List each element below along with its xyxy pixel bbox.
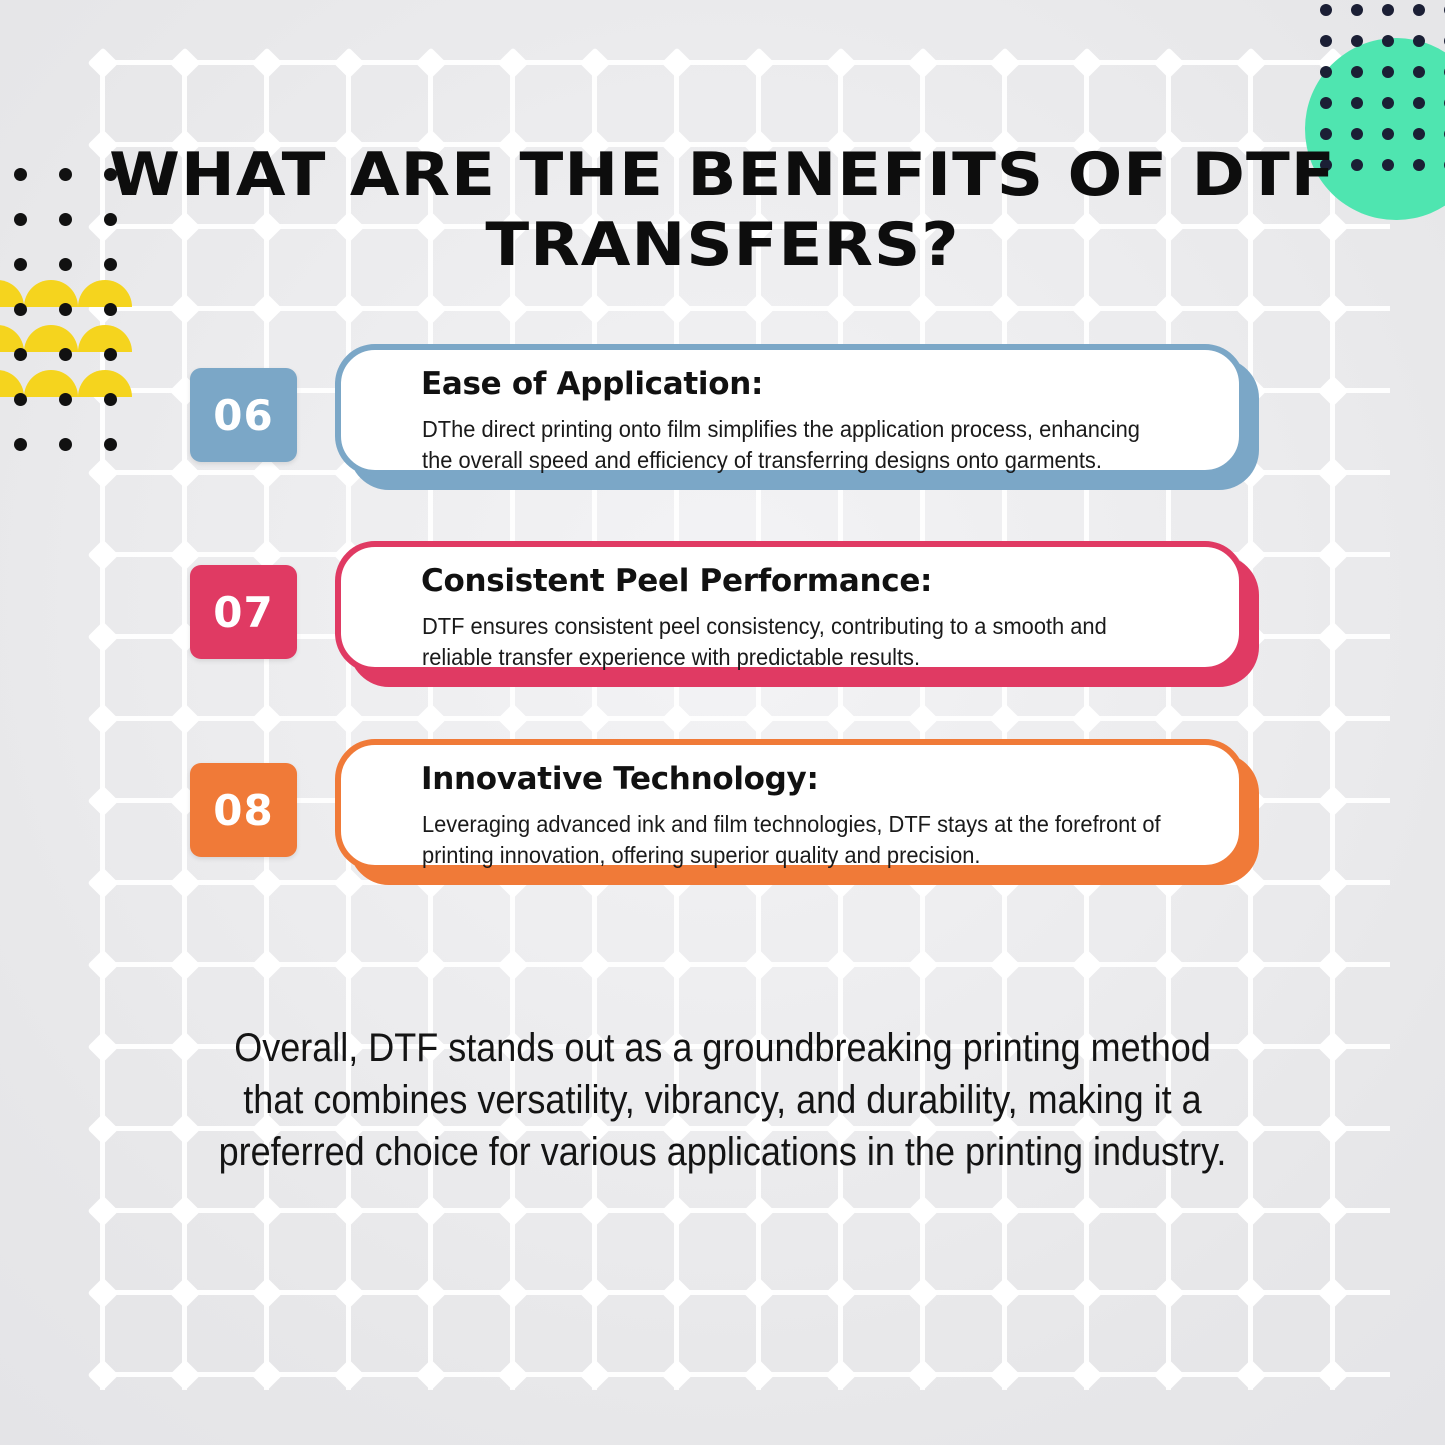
grid-node <box>825 47 856 78</box>
grid-node <box>907 293 938 324</box>
grid-node <box>1317 293 1348 324</box>
grid-node <box>87 703 118 734</box>
grid-node <box>1235 1195 1266 1226</box>
decorative-dot <box>14 258 27 271</box>
badge-number-08: 08 <box>190 763 297 857</box>
decorative-dot <box>59 168 72 181</box>
grid-node <box>907 1195 938 1226</box>
grid-node <box>1153 47 1184 78</box>
decorative-dot <box>1382 66 1394 78</box>
grid-node <box>497 47 528 78</box>
grid-node <box>579 949 610 980</box>
grid-node <box>251 949 282 980</box>
decorative-dot <box>1382 4 1394 16</box>
grid-node <box>1153 949 1184 980</box>
grid-node <box>989 47 1020 78</box>
grid-node <box>415 949 446 980</box>
decorative-dot <box>59 303 72 316</box>
badge-number-06: 06 <box>190 368 297 462</box>
grid-node <box>825 1359 856 1390</box>
grid-node <box>989 293 1020 324</box>
card-08[interactable]: Innovative Technology: Leveraging advanc… <box>335 739 1245 871</box>
decorative-dot <box>1320 35 1332 47</box>
grid-node <box>743 1359 774 1390</box>
grid-node <box>1153 1195 1184 1226</box>
grid-node <box>1317 1277 1348 1308</box>
grid-node <box>1153 1359 1184 1390</box>
grid-node <box>743 1277 774 1308</box>
grid-node <box>989 949 1020 980</box>
decorative-dot <box>14 213 27 226</box>
grid-node <box>497 703 528 734</box>
grid-node <box>1153 293 1184 324</box>
grid-node <box>743 293 774 324</box>
grid-node <box>661 1277 692 1308</box>
grid-node <box>87 1277 118 1308</box>
grid-node <box>579 703 610 734</box>
grid-node <box>989 1195 1020 1226</box>
grid-node <box>415 1277 446 1308</box>
decorative-dot <box>1413 128 1425 140</box>
grid-node <box>1235 1277 1266 1308</box>
grid-node <box>579 1359 610 1390</box>
decorative-dot <box>59 258 72 271</box>
grid-node <box>1071 293 1102 324</box>
grid-node <box>1071 1277 1102 1308</box>
grid-node <box>1071 703 1102 734</box>
decorative-dot <box>1320 4 1332 16</box>
closing-paragraph: Overall, DTF stands out as a groundbreak… <box>216 1022 1229 1178</box>
grid-node <box>497 1359 528 1390</box>
grid-node <box>251 1195 282 1226</box>
grid-node <box>333 949 364 980</box>
grid-node <box>169 293 200 324</box>
grid-node <box>87 949 118 980</box>
grid-node <box>579 293 610 324</box>
decorative-dot <box>1382 97 1394 109</box>
grid-node <box>415 703 446 734</box>
decorative-dot <box>1413 4 1425 16</box>
decorative-dot <box>1351 128 1363 140</box>
grid-node <box>1317 1031 1348 1062</box>
card-body-08: Leveraging advanced ink and film technol… <box>422 809 1175 871</box>
grid-node <box>907 47 938 78</box>
decorative-dot <box>1351 66 1363 78</box>
grid-node <box>743 1195 774 1226</box>
grid-node <box>1071 1195 1102 1226</box>
grid-node <box>497 949 528 980</box>
grid-node <box>907 949 938 980</box>
grid-node <box>1235 1359 1266 1390</box>
grid-node <box>825 949 856 980</box>
grid-node <box>989 1359 1020 1390</box>
grid-node <box>1235 1113 1266 1144</box>
grid-node <box>1235 47 1266 78</box>
grid-node <box>333 47 364 78</box>
grid-node <box>661 949 692 980</box>
grid-node <box>907 703 938 734</box>
grid-node <box>169 1031 200 1062</box>
grid-node <box>1317 703 1348 734</box>
grid-node <box>579 1195 610 1226</box>
grid-node <box>415 47 446 78</box>
grid-node <box>333 1277 364 1308</box>
card-body-07: DTF ensures consistent peel consistency,… <box>422 611 1175 673</box>
infographic-poster: WHAT ARE THE BENEFITS OF DTF TRANSFERS? … <box>0 0 1445 1445</box>
grid-node <box>661 1195 692 1226</box>
badge-number-07: 07 <box>190 565 297 659</box>
grid-node <box>1235 293 1266 324</box>
decorative-dot <box>1351 4 1363 16</box>
decorative-dot <box>1413 66 1425 78</box>
decorative-dot <box>1320 97 1332 109</box>
grid-node <box>907 1359 938 1390</box>
decorative-dot <box>1320 66 1332 78</box>
decorative-dot <box>1351 35 1363 47</box>
grid-node <box>1071 949 1102 980</box>
grid-node <box>497 1277 528 1308</box>
grid-node <box>743 949 774 980</box>
grid-node <box>333 703 364 734</box>
decorative-dot <box>1320 128 1332 140</box>
grid-node <box>1071 47 1102 78</box>
decorative-dot <box>14 168 27 181</box>
grid-node <box>1153 1277 1184 1308</box>
decorative-dot <box>1382 128 1394 140</box>
decorative-dot <box>1382 35 1394 47</box>
benefit-item-07: Consistent Peel Performance: DTF ensures… <box>0 541 1445 701</box>
benefit-item-06: Ease of Application: DThe direct printin… <box>0 344 1445 504</box>
grid-node <box>907 1277 938 1308</box>
grid-node <box>825 1195 856 1226</box>
card-07[interactable]: Consistent Peel Performance: DTF ensures… <box>335 541 1245 673</box>
grid-node <box>87 47 118 78</box>
grid-node <box>661 703 692 734</box>
grid-node <box>825 293 856 324</box>
grid-node <box>1317 1359 1348 1390</box>
grid-node <box>333 1195 364 1226</box>
grid-node <box>333 293 364 324</box>
page-title: WHAT ARE THE BENEFITS OF DTF TRANSFERS? <box>78 140 1367 280</box>
grid-node <box>497 293 528 324</box>
grid-node <box>1235 1031 1266 1062</box>
card-06[interactable]: Ease of Application: DThe direct printin… <box>335 344 1245 476</box>
card-body-06: DThe direct printing onto film simplifie… <box>422 414 1175 476</box>
grid-node <box>169 949 200 980</box>
decorative-dot <box>1382 159 1394 171</box>
grid-node <box>1235 949 1266 980</box>
grid-node <box>169 1277 200 1308</box>
decorative-dot <box>104 303 117 316</box>
grid-node <box>825 703 856 734</box>
grid-node <box>989 703 1020 734</box>
decorative-dot <box>59 213 72 226</box>
grid-node <box>415 1359 446 1390</box>
grid-node <box>579 1277 610 1308</box>
grid-node <box>415 1195 446 1226</box>
grid-node <box>169 1113 200 1144</box>
grid-node <box>825 1277 856 1308</box>
decorative-dot <box>1351 97 1363 109</box>
grid-node <box>169 47 200 78</box>
grid-node <box>743 703 774 734</box>
grid-node <box>661 47 692 78</box>
grid-node <box>1071 1359 1102 1390</box>
grid-node <box>251 293 282 324</box>
grid-node <box>169 1195 200 1226</box>
grid-node <box>579 47 610 78</box>
card-heading-08: Innovative Technology: <box>421 761 819 797</box>
grid-node <box>415 293 446 324</box>
grid-node <box>989 1277 1020 1308</box>
grid-node <box>1153 703 1184 734</box>
grid-node <box>87 1195 118 1226</box>
grid-node <box>251 47 282 78</box>
grid-node <box>251 1277 282 1308</box>
card-heading-06: Ease of Application: <box>421 366 763 402</box>
grid-node <box>87 1359 118 1390</box>
grid-node <box>251 703 282 734</box>
grid-node <box>661 1359 692 1390</box>
grid-node <box>1317 949 1348 980</box>
grid-node <box>333 1359 364 1390</box>
grid-node <box>169 703 200 734</box>
grid-node <box>1235 703 1266 734</box>
grid-node <box>661 293 692 324</box>
grid-node <box>169 1359 200 1390</box>
grid-node <box>743 47 774 78</box>
decorative-dot <box>1413 97 1425 109</box>
grid-node <box>251 1359 282 1390</box>
grid-node <box>497 1195 528 1226</box>
grid-node <box>87 1113 118 1144</box>
decorative-dot <box>1413 35 1425 47</box>
benefit-item-08: Innovative Technology: Leveraging advanc… <box>0 739 1445 899</box>
decorative-dot <box>14 303 27 316</box>
grid-node <box>1317 1113 1348 1144</box>
grid-node <box>87 1031 118 1062</box>
grid-node <box>1317 1195 1348 1226</box>
decorative-dot <box>1413 159 1425 171</box>
card-heading-07: Consistent Peel Performance: <box>421 563 932 599</box>
